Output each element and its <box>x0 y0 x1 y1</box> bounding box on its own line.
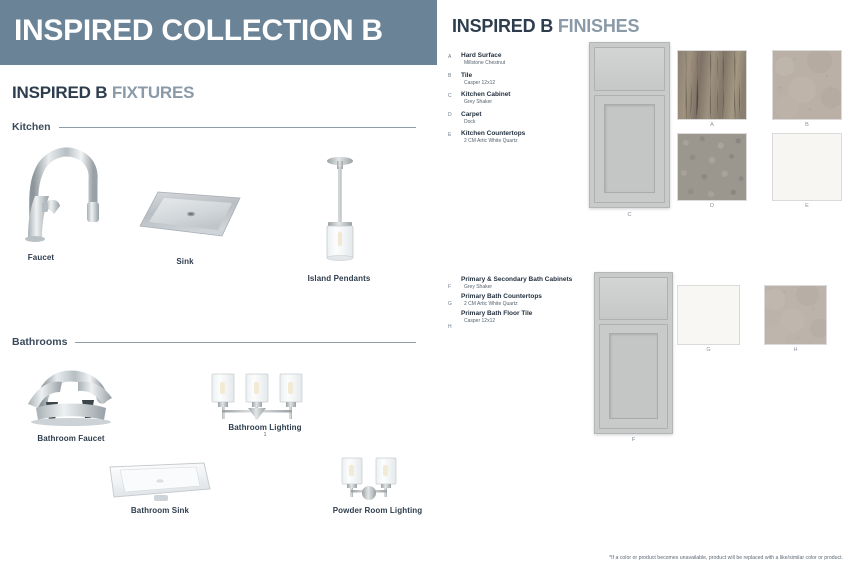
hard-surface-swatch <box>677 50 747 120</box>
fixtures-panel: INSPIRED COLLECTION B INSPIRED B FIXTURE… <box>0 0 437 569</box>
legend-item: C Kitchen Cabinet Grey Shaker <box>448 91 583 106</box>
bath-countertop-swatch <box>677 285 740 345</box>
countertop-swatch <box>772 133 842 201</box>
bathroom-faucet-image <box>16 358 124 428</box>
legend-key: G <box>448 301 452 307</box>
legend-desc: 2 CM Artic White Quartz <box>461 301 583 308</box>
bathroom-sink-image <box>100 455 215 505</box>
legend-item: B Tile Casper 12x12 <box>448 72 583 87</box>
divider-rule <box>59 127 416 128</box>
legend-desc: Casper 12x12 <box>461 318 583 325</box>
legend-name: Primary & Secondary Bath Cabinets <box>461 276 583 284</box>
fixture-caption-island-pendants: Island Pendants <box>289 274 389 283</box>
legend-desc: Dock <box>461 119 583 126</box>
legend-key: C <box>448 93 452 99</box>
legend-desc: 2 CM Artic White Quartz <box>461 138 583 145</box>
finishes-panel: INSPIRED B FINISHES A Hard Surface Mills… <box>437 0 853 569</box>
legend-item: H Primary Bath Floor Tile Casper 12x12 <box>448 310 583 325</box>
swatch-letter: A <box>677 122 747 128</box>
legend-item: G Primary Bath Countertops 2 CM Artic Wh… <box>448 293 583 308</box>
cabinet-door-image <box>594 272 673 434</box>
group-label-bathrooms: Bathrooms <box>12 336 75 348</box>
tile-swatch <box>772 50 842 120</box>
swatch-letter: G <box>677 347 740 353</box>
fixture-caption-bathroom-sink: Bathroom Sink <box>110 506 210 515</box>
legend-key: A <box>448 54 451 60</box>
fixture-caption-bathroom-lighting: Bathroom Lighting <box>210 423 320 432</box>
collection-title: INSPIRED COLLECTION B <box>14 14 383 48</box>
cabinet-door-inset <box>604 104 655 193</box>
finish-swatch-grid-bottom: G H <box>677 285 847 365</box>
legend-name: Kitchen Cabinet <box>461 91 583 99</box>
legend-item: F Primary & Secondary Bath Cabinets Grey… <box>448 276 583 291</box>
cabinet-door-inset <box>609 333 658 419</box>
divider-rule <box>75 342 416 343</box>
swatch-letter: B <box>772 122 842 128</box>
swatch-letter: H <box>764 347 827 353</box>
cabinet-door-image <box>589 42 670 208</box>
legend-desc: Casper 12x12 <box>461 80 583 87</box>
legend-name: Tile <box>461 72 583 80</box>
cabinet-letter: C <box>589 212 670 218</box>
legend-desc: Grey Shaker <box>461 99 583 106</box>
legend-name: Hard Surface <box>461 52 583 60</box>
island-pendant-image <box>318 152 362 270</box>
legend-key: E <box>448 132 451 138</box>
legend-key: F <box>448 284 451 290</box>
disclaimer-footnote: *If a color or product becomes unavailab… <box>609 555 843 561</box>
legend-name: Kitchen Countertops <box>461 130 583 138</box>
cabinet-door-panel <box>594 95 665 203</box>
legend-item: A Hard Surface Millstone Chestnut <box>448 52 583 67</box>
fixtures-heading: INSPIRED B FIXTURES <box>12 83 194 103</box>
kitchen-sink-image <box>136 186 244 244</box>
legend-name: Primary Bath Countertops <box>461 293 583 301</box>
cabinet-drawer <box>594 47 665 91</box>
finishes-heading-strong: INSPIRED B <box>452 16 553 36</box>
finish-swatch-grid-top: A B D <box>677 50 847 190</box>
fixture-caption-sink: Sink <box>155 257 215 266</box>
fixtures-heading-light: FIXTURES <box>112 83 194 102</box>
legend-item: D Carpet Dock <box>448 111 583 126</box>
swatch-letter: E <box>772 203 842 209</box>
group-header-bathrooms: Bathrooms <box>12 336 416 348</box>
powder-room-lighting-image <box>330 455 408 505</box>
fixture-caption-faucet: Faucet <box>6 253 76 262</box>
finishes-heading-light: FINISHES <box>558 16 639 36</box>
cabinet-door-panel <box>599 324 668 429</box>
kitchen-cabinet-sample: C <box>589 42 670 208</box>
fixtures-heading-strong: INSPIRED B <box>12 83 107 102</box>
legend-name: Carpet <box>461 111 583 119</box>
carpet-swatch <box>677 133 747 201</box>
fixture-caption-bathroom-faucet: Bathroom Faucet <box>26 434 116 443</box>
fixture-subcaption-bathroom-lighting: 1 <box>210 432 320 438</box>
cabinet-letter: F <box>594 437 673 443</box>
group-label-kitchen: Kitchen <box>12 121 59 133</box>
legend-key: D <box>448 112 452 118</box>
finishes-legend-top: A Hard Surface Millstone Chestnut B Tile… <box>448 52 583 150</box>
legend-desc: Millstone Chestnut <box>461 60 583 67</box>
legend-item: E Kitchen Countertops 2 CM Artic White Q… <box>448 130 583 145</box>
group-header-kitchen: Kitchen <box>12 121 416 133</box>
collection-title-band: INSPIRED COLLECTION B <box>0 0 437 65</box>
legend-name: Primary Bath Floor Tile <box>461 310 583 318</box>
cabinet-drawer <box>599 277 668 320</box>
legend-key: B <box>448 73 451 79</box>
kitchen-faucet-image <box>14 136 118 246</box>
swatch-letter: D <box>677 203 747 209</box>
fixture-caption-powder-room-lighting: Powder Room Lighting <box>315 506 440 515</box>
finishes-heading: INSPIRED B FINISHES <box>452 16 639 37</box>
bath-floor-tile-swatch <box>764 285 827 345</box>
finishes-legend-bottom: F Primary & Secondary Bath Cabinets Grey… <box>448 276 583 327</box>
legend-desc: Grey Shaker <box>461 284 583 291</box>
legend-key: H <box>448 324 452 330</box>
bathroom-lighting-image <box>204 370 308 422</box>
bath-cabinet-sample: F <box>594 272 673 434</box>
